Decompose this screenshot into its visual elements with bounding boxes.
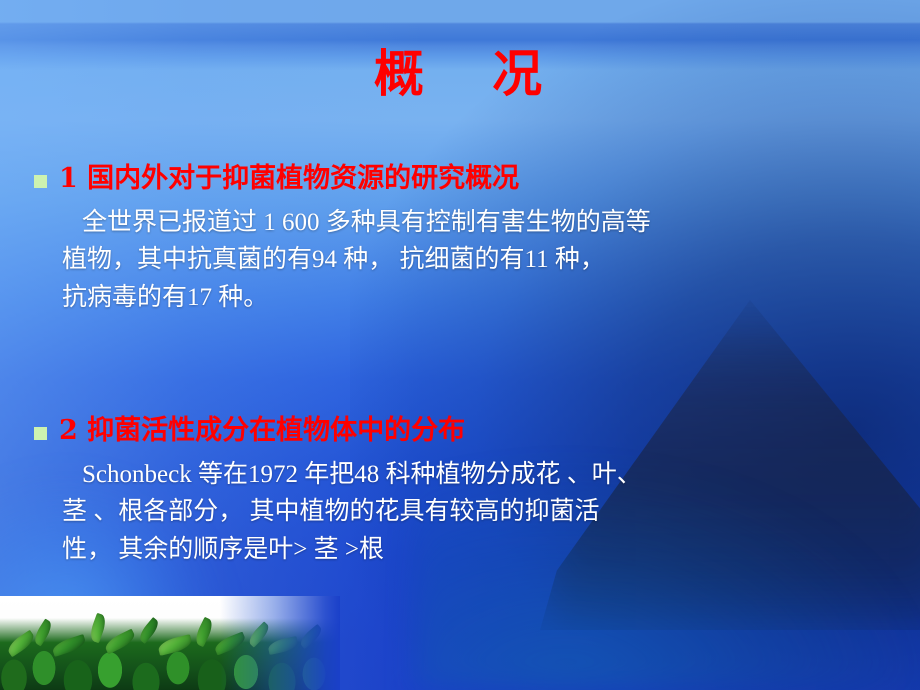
section-2-heading-row: 2 抑菌活性成分在植物体中的分布 [34, 414, 902, 448]
bullet-square-icon [34, 427, 47, 440]
section-1-heading: 1 国内外对于抑菌植物资源的研究概况 [59, 162, 519, 196]
section-2-heading: 2 抑菌活性成分在植物体中的分布 [59, 414, 465, 448]
section-1-line-3: 抗病毒的有17 种。 [62, 279, 902, 317]
section-1-paragraph: 全世界已报道过 1 600 多种具有控制有害生物的高等 植物，其中抗真菌的有94… [62, 204, 902, 317]
section-1-heading-row: 1 国内外对于抑菌植物资源的研究概况 [34, 162, 902, 196]
bullet-square-icon [34, 175, 47, 188]
section-1-line-1: 全世界已报道过 1 600 多种具有控制有害生物的高等 [62, 204, 902, 242]
section-2-line-3: 性， 其余的顺序是叶> 茎 >根 [62, 531, 902, 569]
section-1-line-2: 植物，其中抗真菌的有94 种， 抗细菌的有11 种， [62, 241, 902, 279]
section-2: 2 抑菌活性成分在植物体中的分布 Schonbeck 等在1972 年把48 科… [34, 414, 902, 568]
section-1: 1 国内外对于抑菌植物资源的研究概况 全世界已报道过 1 600 多种具有控制有… [34, 162, 902, 316]
presentation-slide: 概 况 1 国内外对于抑菌植物资源的研究概况 全世界已报道过 1 600 多种具… [0, 0, 920, 690]
slide-content: 概 况 1 国内外对于抑菌植物资源的研究概况 全世界已报道过 1 600 多种具… [0, 0, 920, 690]
page-title: 概 况 [0, 46, 920, 101]
section-2-paragraph: Schonbeck 等在1972 年把48 科种植物分成花 、叶、 茎 、根各部… [62, 456, 902, 569]
section-2-line-2: 茎 、根各部分， 其中植物的花具有较高的抑菌活 [62, 493, 902, 531]
section-2-line-1: Schonbeck 等在1972 年把48 科种植物分成花 、叶、 [62, 456, 902, 494]
